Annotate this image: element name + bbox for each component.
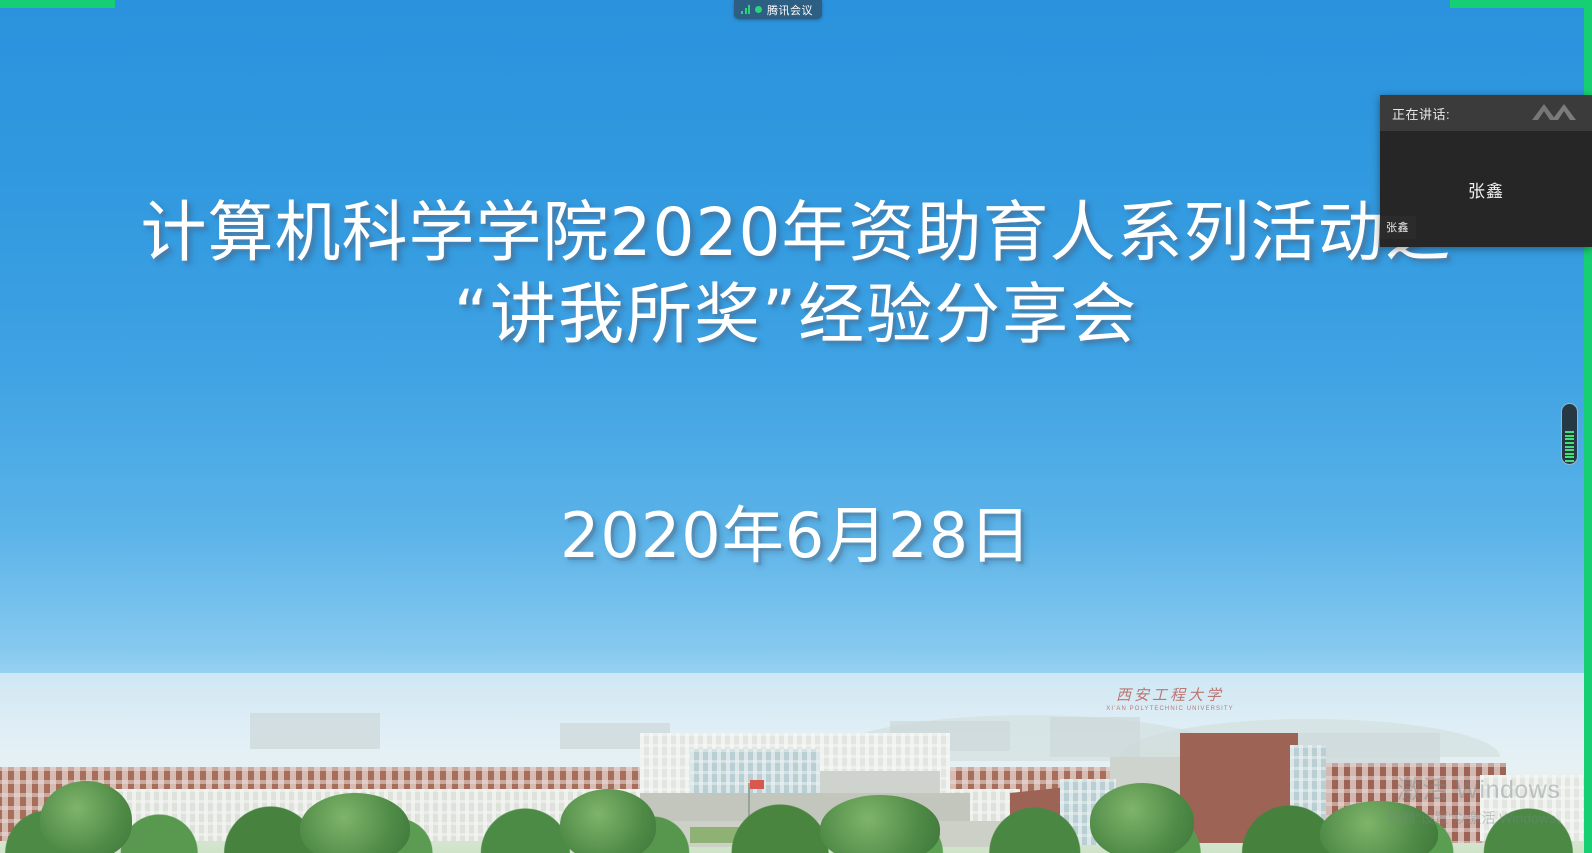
slide-title: 计算机科学学院2020年资助育人系列活动之 “讲我所奖”经验分享会 bbox=[0, 192, 1592, 356]
mic-level-meter[interactable] bbox=[1561, 403, 1578, 465]
screen-share-border-top-right bbox=[1450, 0, 1592, 8]
background-building bbox=[250, 713, 380, 749]
campus-photo: 西安工程大学 XI'AN POLYTECHNIC UNIVERSITY bbox=[0, 673, 1592, 853]
signage-english: XI'AN POLYTECHNIC UNIVERSITY bbox=[1060, 706, 1280, 712]
screen-share-view: 西安工程大学 XI'AN POLYTECHNIC UNIVERSITY 计算机科… bbox=[0, 0, 1592, 853]
speaker-name: 张鑫 bbox=[1468, 177, 1504, 202]
university-signage: 西安工程大学 XI'AN POLYTECHNIC UNIVERSITY bbox=[1060, 689, 1280, 712]
watermark-subtitle: 转到"设置"以激活 Windows。 bbox=[1387, 810, 1570, 828]
signage-chinese: 西安工程大学 bbox=[1060, 689, 1280, 704]
windows-activation-watermark: 激活 Windows 转到"设置"以激活 Windows。 bbox=[1387, 775, 1570, 827]
shared-slide: 西安工程大学 XI'AN POLYTECHNIC UNIVERSITY 计算机科… bbox=[0, 6, 1592, 853]
slide-title-line2: “讲我所奖”经验分享会 bbox=[0, 274, 1592, 356]
screen-share-border-top-left bbox=[0, 0, 115, 8]
speaker-name-badge: 张鑫 bbox=[1380, 216, 1416, 239]
tree bbox=[560, 789, 656, 853]
speaker-video-tile[interactable]: 张鑫 张鑫 bbox=[1380, 131, 1592, 247]
slide-title-line1: 计算机科学学院2020年资助育人系列活动之 bbox=[0, 192, 1592, 274]
live-dot-icon bbox=[755, 6, 762, 13]
meeting-pill-label: 腾讯会议 bbox=[767, 2, 813, 18]
active-speaker-panel[interactable]: 正在讲话: 张鑫 张鑫 bbox=[1380, 95, 1592, 247]
watermark-title: 激活 Windows bbox=[1387, 775, 1570, 806]
tree bbox=[40, 781, 132, 853]
speaking-now-label: 正在讲话: bbox=[1392, 104, 1450, 123]
speaker-panel-header[interactable]: 正在讲话: bbox=[1380, 95, 1592, 131]
background-building bbox=[1050, 717, 1140, 757]
flag bbox=[750, 780, 764, 789]
tencent-meeting-logo-icon bbox=[1530, 100, 1584, 126]
meeting-status-pill[interactable]: 腾讯会议 bbox=[734, 0, 822, 19]
slide-date: 2020年6月28日 bbox=[0, 498, 1592, 574]
signal-bars-icon bbox=[741, 5, 750, 14]
tree bbox=[1090, 783, 1194, 853]
